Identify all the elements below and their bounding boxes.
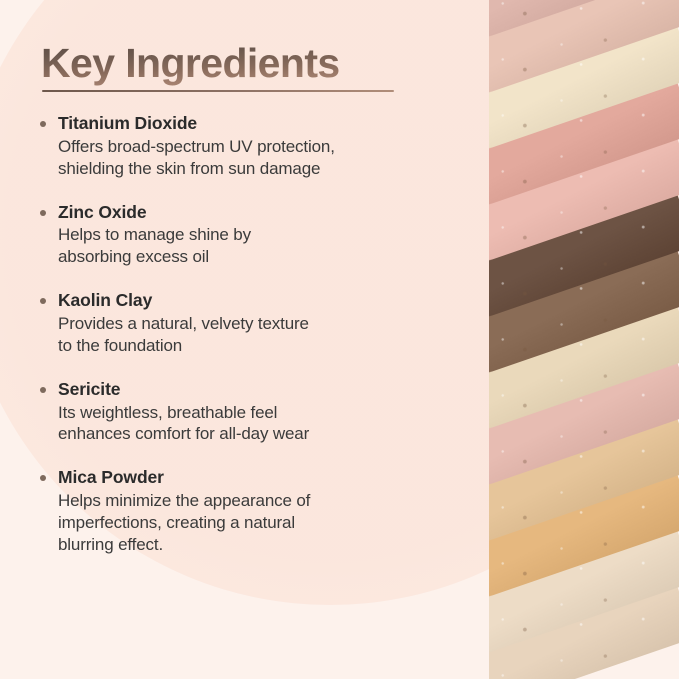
bullet-icon (40, 387, 46, 393)
text-content-column: Key Ingredients Titanium Dioxide Offers … (0, 0, 470, 679)
powder-swatch-strip (489, 0, 679, 679)
infographic-canvas: Key Ingredients Titanium Dioxide Offers … (0, 0, 679, 679)
ingredient-name: Mica Powder (58, 466, 438, 489)
ingredient-name: Sericite (58, 378, 438, 401)
ingredient-description: Its weightless, breathable feel enhances… (58, 402, 438, 446)
ingredient-name: Zinc Oxide (58, 201, 438, 224)
ingredient-description: Helps to manage shine by absorbing exces… (58, 224, 438, 268)
list-item: Titanium Dioxide Offers broad-spectrum U… (38, 112, 438, 180)
list-item: Mica Powder Helps minimize the appearanc… (38, 466, 438, 556)
bullet-icon (40, 121, 46, 127)
bullet-icon (40, 475, 46, 481)
ingredient-name: Titanium Dioxide (58, 112, 438, 135)
page-title-wrapper: Key Ingredients (41, 40, 340, 87)
list-item: Kaolin Clay Provides a natural, velvety … (38, 289, 438, 357)
list-item: Sericite Its weightless, breathable feel… (38, 378, 438, 446)
ingredient-description: Provides a natural, velvety texture to t… (58, 313, 438, 357)
ingredient-list: Titanium Dioxide Offers broad-spectrum U… (38, 112, 438, 556)
title-underline (42, 90, 394, 92)
ingredient-description: Offers broad-spectrum UV protection, shi… (58, 136, 438, 180)
ingredient-name: Kaolin Clay (58, 289, 438, 312)
page-title: Key Ingredients (41, 40, 340, 87)
bullet-icon (40, 298, 46, 304)
list-item: Zinc Oxide Helps to manage shine by abso… (38, 201, 438, 269)
ingredient-description: Helps minimize the appearance of imperfe… (58, 490, 438, 556)
bullet-icon (40, 210, 46, 216)
